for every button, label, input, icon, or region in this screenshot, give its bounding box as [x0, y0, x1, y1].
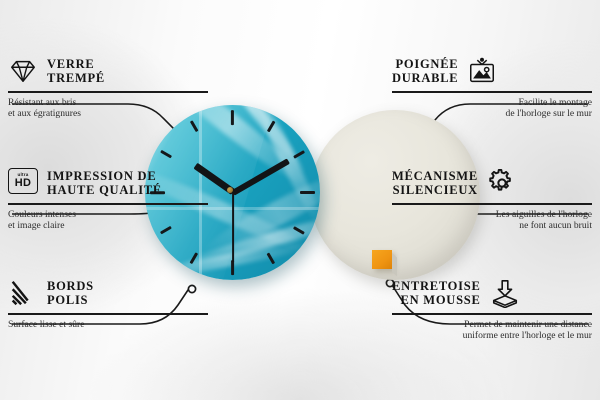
feature-bords-polis: BORDS POLIS Surface lisse et sûre	[8, 278, 208, 330]
infographic-stage: VERRE TREMPÉ Résistant aux bris et aux é…	[0, 0, 600, 400]
hour-marker	[231, 260, 234, 275]
ultra-hd-icon-main-label: HD	[15, 178, 32, 189]
feature-poignee-durable: POIGNÉE DURABLE Facilite le montage de l…	[392, 56, 592, 120]
feature-description: Résistant aux bris et aux égratignures	[8, 97, 208, 120]
foam-spacer-icon	[490, 278, 520, 308]
divider	[8, 313, 208, 315]
gear-icon	[487, 168, 517, 198]
feature-title: VERRE TREMPÉ	[47, 57, 105, 85]
feature-header: ultra HD IMPRESSION DE HAUTE QUALITÉ	[8, 168, 208, 198]
feature-impression-haute-qualite: ultra HD IMPRESSION DE HAUTE QUALITÉ Cou…	[8, 168, 208, 232]
feature-header: POIGNÉE DURABLE	[392, 56, 592, 86]
feature-verre-trempe: VERRE TREMPÉ Résistant aux bris et aux é…	[8, 56, 208, 120]
polished-edges-icon	[8, 278, 38, 308]
ultra-hd-icon: ultra HD	[8, 168, 38, 198]
picture-frame-hanger-icon	[467, 56, 497, 86]
feature-header: BORDS POLIS	[8, 278, 208, 308]
clock-center-cap	[227, 187, 233, 193]
feature-description: Permet de maintenir une distance uniform…	[392, 319, 592, 342]
feature-description: Couleurs intenses et image claire	[8, 209, 208, 232]
feature-description: Surface lisse et sûre	[8, 319, 208, 331]
feature-description: Facilite le montage de l'horloge sur le …	[392, 97, 592, 120]
feature-entretoise-en-mousse: ENTRETOISE EN MOUSSE Permet de maintenir…	[392, 278, 592, 342]
divider	[392, 203, 592, 205]
divider	[392, 313, 592, 315]
hour-marker	[231, 110, 234, 125]
feature-title: MÉCANISME SILENCIEUX	[392, 169, 478, 197]
diamond-icon	[8, 56, 38, 86]
divider	[392, 91, 592, 93]
divider	[8, 203, 208, 205]
hour-marker	[300, 191, 315, 194]
feature-title: ENTRETOISE EN MOUSSE	[392, 279, 481, 307]
feature-header: MÉCANISME SILENCIEUX	[392, 168, 592, 198]
second-hand	[231, 192, 233, 262]
foam-spacer-pad	[372, 250, 392, 269]
feature-mecanisme-silencieux: MÉCANISME SILENCIEUX Les aiguilles de l'…	[392, 168, 592, 232]
feature-title: IMPRESSION DE HAUTE QUALITÉ	[47, 169, 162, 197]
feature-header: VERRE TREMPÉ	[8, 56, 208, 86]
feature-header: ENTRETOISE EN MOUSSE	[392, 278, 592, 308]
feature-title: POIGNÉE DURABLE	[392, 57, 458, 85]
feature-description: Les aiguilles de l'horloge ne font aucun…	[392, 209, 592, 232]
divider	[8, 91, 208, 93]
feature-title: BORDS POLIS	[47, 279, 94, 307]
